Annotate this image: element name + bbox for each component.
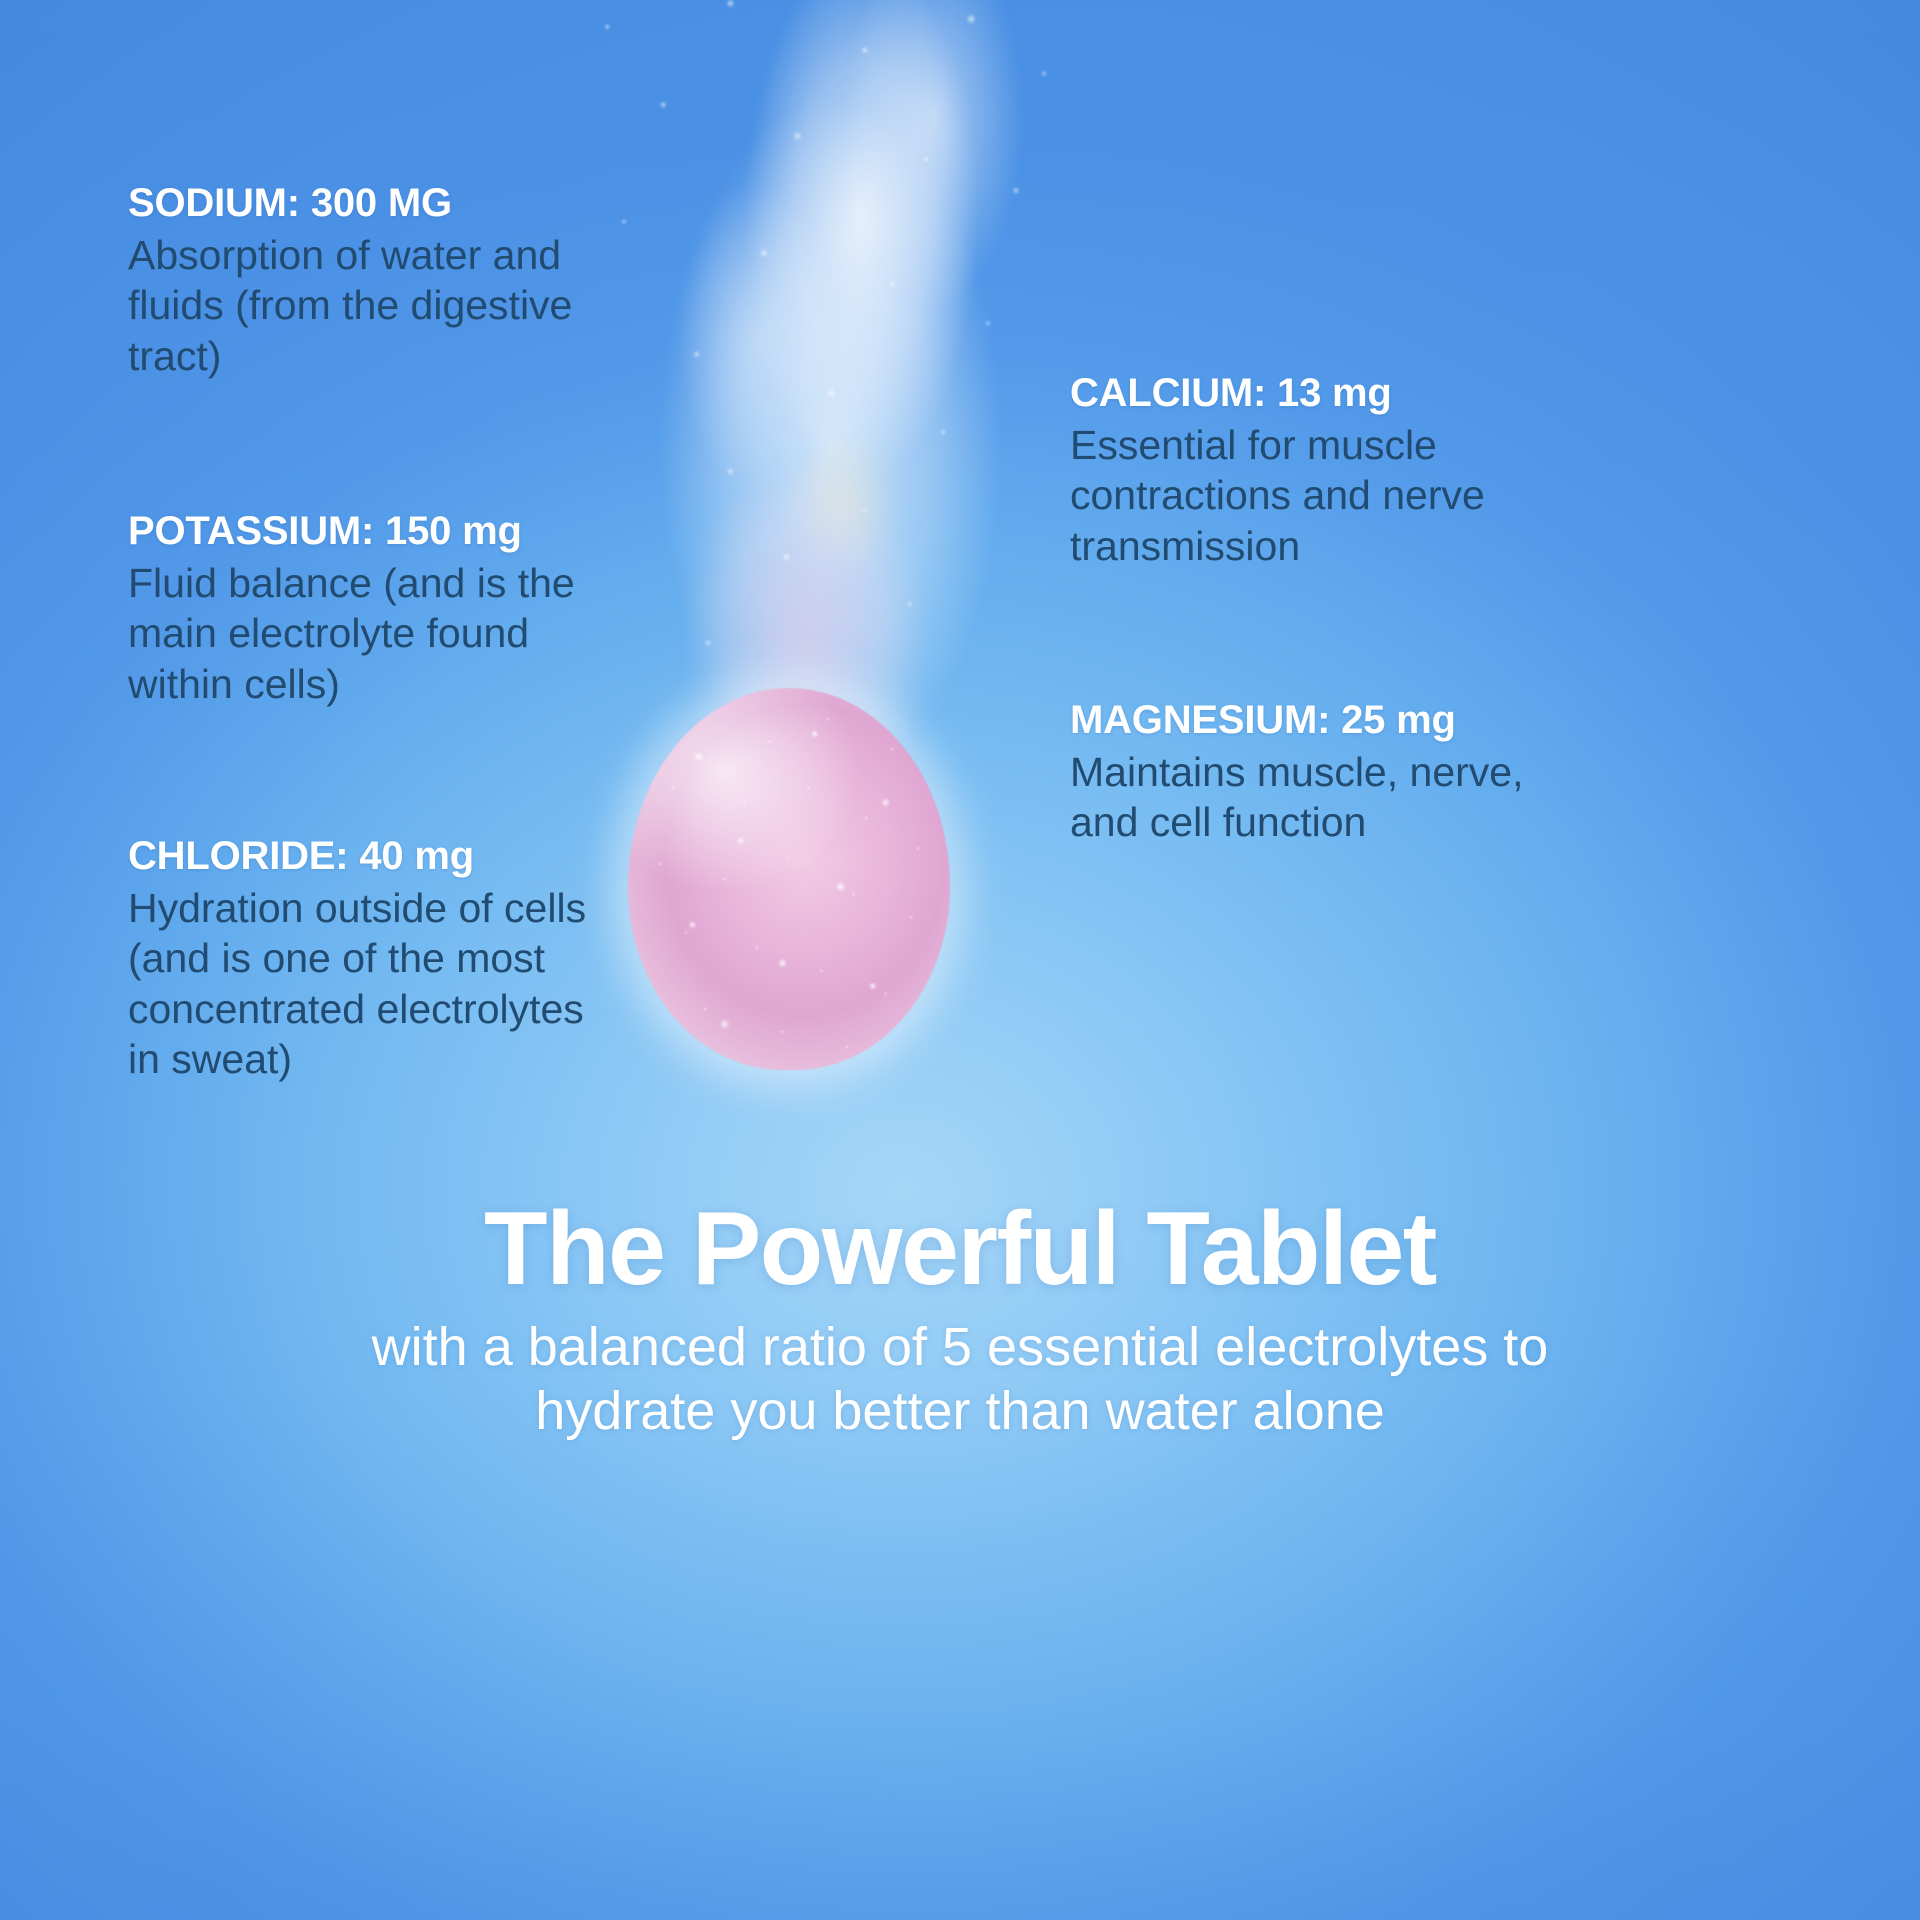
electrolyte-fact-list: SODIUM: 300 MG Absorption of water and f… <box>0 0 1920 1920</box>
fact-chloride-description: Hydration outside of cells (and is one o… <box>128 883 598 1085</box>
fact-chloride: CHLORIDE: 40 mg Hydration outside of cel… <box>128 833 598 1085</box>
footer-headline-block: The Powerful Tablet with a balanced rati… <box>0 1196 1920 1444</box>
subheadline-line-1: with a balanced ratio of 5 essential ele… <box>0 1316 1920 1380</box>
headline: The Powerful Tablet <box>0 1196 1920 1302</box>
fact-chloride-title: CHLORIDE: 40 mg <box>128 833 598 879</box>
fact-potassium-title: POTASSIUM: 150 mg <box>128 508 598 554</box>
fact-magnesium-title: MAGNESIUM: 25 mg <box>1070 697 1540 743</box>
fact-sodium: SODIUM: 300 MG Absorption of water and f… <box>128 180 598 381</box>
fact-sodium-title: SODIUM: 300 MG <box>128 180 598 226</box>
fact-magnesium: MAGNESIUM: 25 mg Maintains muscle, nerve… <box>1070 697 1540 848</box>
fact-calcium-title: CALCIUM: 13 mg <box>1070 370 1540 416</box>
fact-potassium: POTASSIUM: 150 mg Fluid balance (and is … <box>128 508 598 709</box>
fact-potassium-description: Fluid balance (and is the main electroly… <box>128 558 598 709</box>
infographic-canvas: SODIUM: 300 MG Absorption of water and f… <box>0 0 1920 1920</box>
subheadline: with a balanced ratio of 5 essential ele… <box>0 1316 1920 1443</box>
fact-magnesium-description: Maintains muscle, nerve, and cell functi… <box>1070 747 1540 848</box>
subheadline-line-2: hydrate you better than water alone <box>0 1380 1920 1444</box>
fact-sodium-description: Absorption of water and fluids (from the… <box>128 230 598 381</box>
fact-calcium-description: Essential for muscle contractions and ne… <box>1070 420 1540 571</box>
fact-calcium: CALCIUM: 13 mg Essential for muscle cont… <box>1070 370 1540 571</box>
